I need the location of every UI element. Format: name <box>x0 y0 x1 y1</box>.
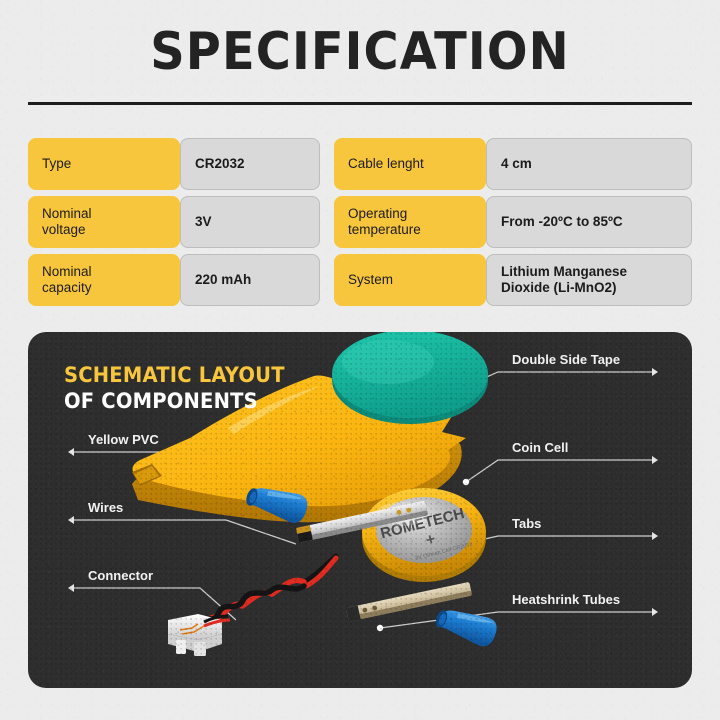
schematic-panel: ROMETECH + 3V Lithium Cell CR2032 <box>28 332 692 688</box>
callout-label-heatshrink-tubes: Heatshrink Tubes <box>512 592 620 607</box>
spec-value-cable-length: 4 cm <box>486 138 692 190</box>
spec-label-nominal-capacity: Nominalcapacity <box>28 254 180 306</box>
title-divider <box>28 102 692 105</box>
specification-table: Type CR2032 Cable lenght 4 cm Nominalvol… <box>28 138 692 306</box>
spec-value-type: CR2032 <box>180 138 320 190</box>
spec-label-nominal-voltage: Nominalvoltage <box>28 196 180 248</box>
spec-value-nominal-voltage: 3V <box>180 196 320 248</box>
spec-value-nominal-capacity: 220 mAh <box>180 254 320 306</box>
spec-value-operating-temperature: From -20ºC to 85ºC <box>486 196 692 248</box>
panel-heading: SCHEMATIC LAYOUT OF COMPONENTS <box>64 362 285 415</box>
page-title-wrap: SPECIFICATION <box>0 26 720 78</box>
spec-value-system: Lithium ManganeseDioxide (Li-MnO2) <box>486 254 692 306</box>
panel-heading-line2: OF COMPONENTS <box>64 388 285 414</box>
callout-label-connector: Connector <box>88 568 153 583</box>
spec-label-type: Type <box>28 138 180 190</box>
panel-heading-line1: SCHEMATIC LAYOUT <box>64 362 285 388</box>
callout-label-double-side-tape: Double Side Tape <box>512 352 620 367</box>
page-title: SPECIFICATION <box>29 26 691 78</box>
spec-label-system: System <box>334 254 486 306</box>
callout-label-wires: Wires <box>88 500 123 515</box>
callout-label-coin-cell: Coin Cell <box>512 440 568 455</box>
spec-label-operating-temperature: Operatingtemperature <box>334 196 486 248</box>
callout-label-yellow-pvc: Yellow PVC <box>88 432 159 447</box>
callout-label-tabs: Tabs <box>512 516 541 531</box>
spec-label-cable-length: Cable lenght <box>334 138 486 190</box>
